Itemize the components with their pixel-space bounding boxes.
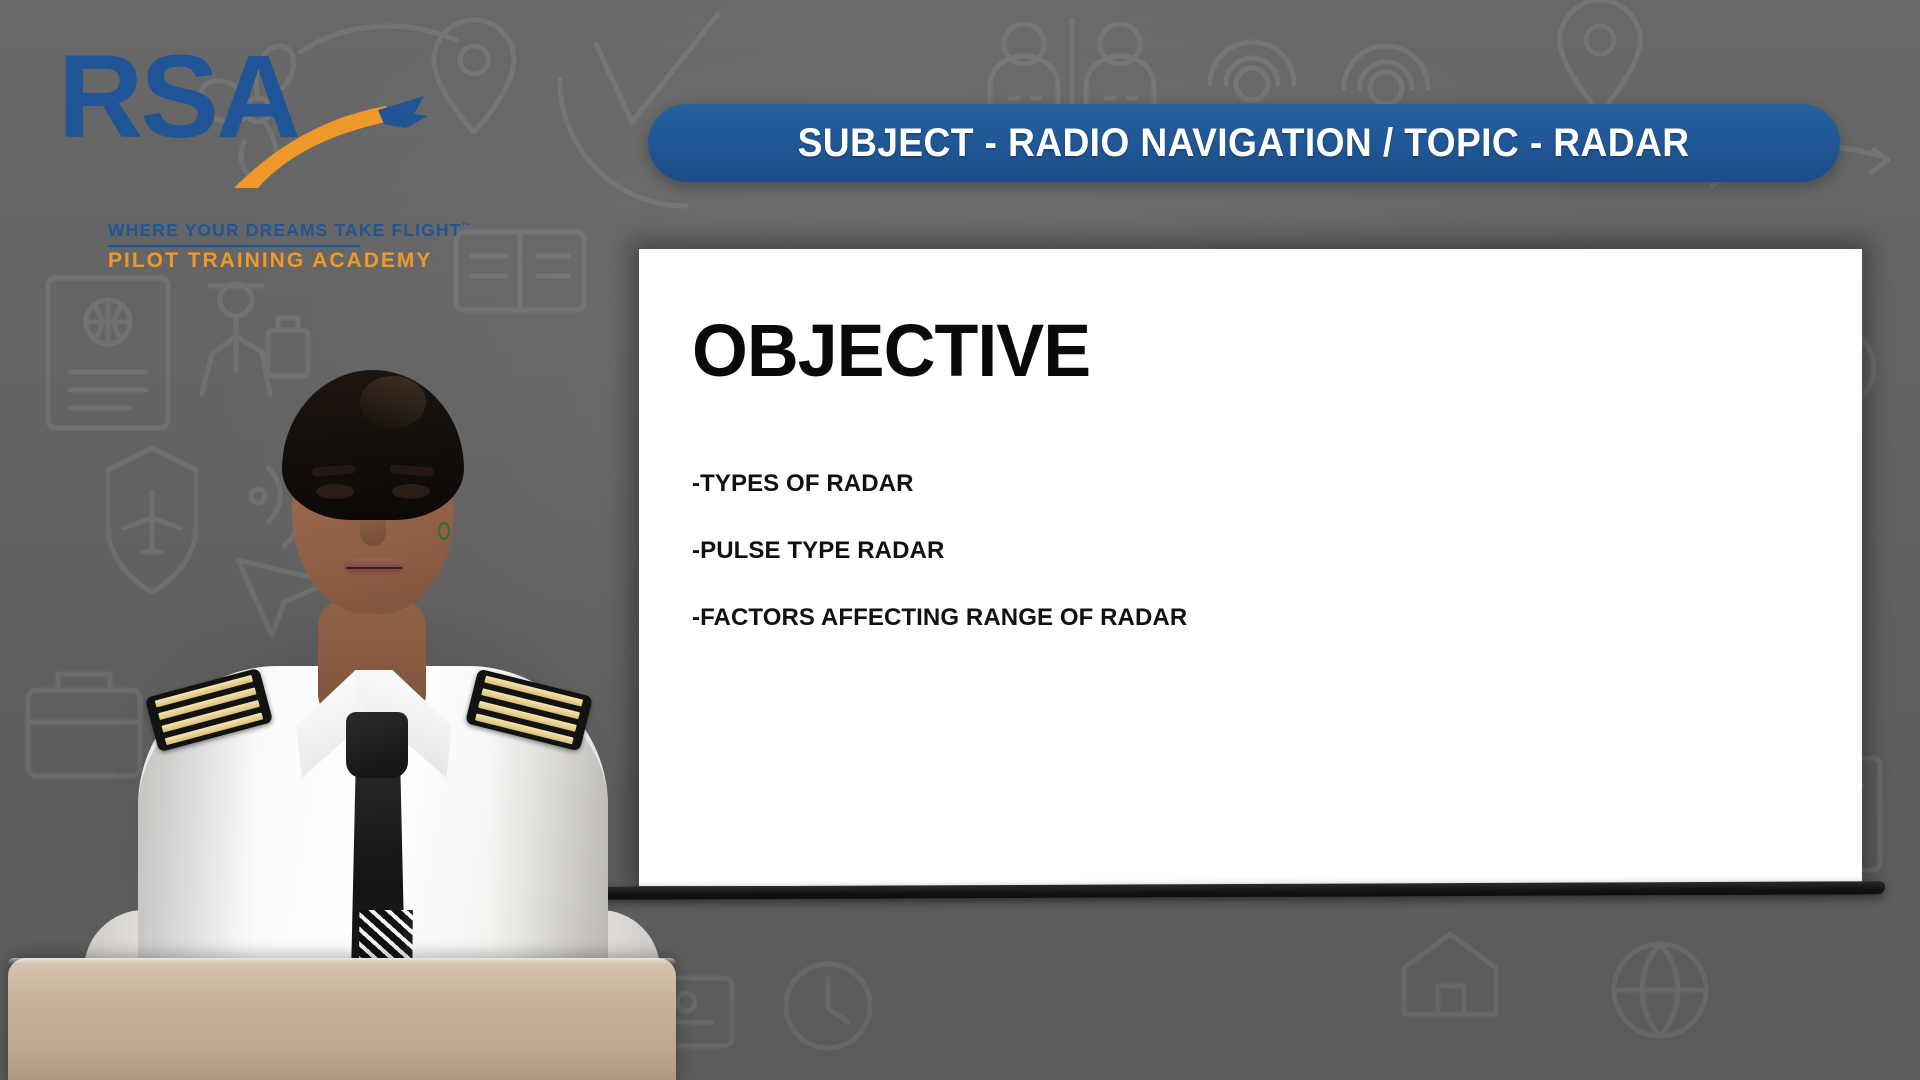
- logo-divider: [108, 245, 360, 247]
- radar-sweep-icon: [1344, 46, 1428, 104]
- necktie-knot: [346, 712, 408, 778]
- clock-icon: [786, 964, 870, 1048]
- lip-line: [346, 567, 402, 569]
- banner-title-text: SUBJECT - RADIO NAVIGATION / TOPIC - RAD…: [798, 121, 1690, 166]
- location-pin-icon: [1560, 0, 1640, 112]
- swoosh-airplane-icon: [228, 94, 428, 190]
- laptop-lid-highlight: [8, 958, 676, 964]
- video-lesson-frame: RSA WHERE YOUR DREAMS TAKE FLIGHT™ PILOT…: [0, 0, 1920, 1080]
- nose: [360, 502, 386, 546]
- list-item: -FACTORS AFFECTING RANGE OF RADAR: [692, 604, 1772, 632]
- logo-mark: RSA: [52, 42, 392, 172]
- presenter-hair-highlight: [360, 376, 426, 428]
- eye-left: [316, 484, 354, 499]
- slide-heading: OBJECTIVE: [692, 308, 1090, 393]
- passenger-seat-icon: [1086, 24, 1154, 112]
- passenger-seat-icon: [990, 24, 1058, 112]
- slide-bullet-list: -TYPES OF RADAR -PULSE TYPE RADAR -FACTO…: [692, 470, 1772, 671]
- globe-icon: [1614, 944, 1706, 1036]
- rsa-logo: RSA WHERE YOUR DREAMS TAKE FLIGHT™ PILOT…: [52, 42, 472, 222]
- radar-sweep-icon: [1210, 42, 1294, 100]
- hangar-icon: [1404, 934, 1496, 1014]
- list-item: -TYPES OF RADAR: [692, 470, 1772, 498]
- subject-topic-banner: SUBJECT - RADIO NAVIGATION / TOPIC - RAD…: [648, 104, 1840, 182]
- earring: [438, 522, 450, 540]
- eye-right: [392, 484, 430, 499]
- logo-tagline: WHERE YOUR DREAMS TAKE FLIGHT™: [108, 220, 472, 241]
- laptop-lid: [8, 958, 676, 1080]
- list-item: -PULSE TYPE RADAR: [692, 537, 1772, 565]
